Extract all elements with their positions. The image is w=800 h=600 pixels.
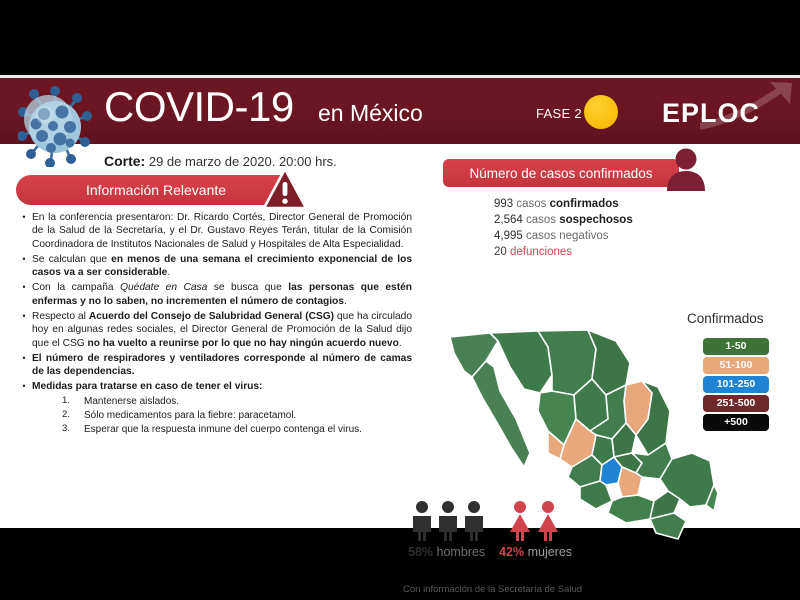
bullet-text: Con la campaña Quédate en Casa se busca … (32, 281, 412, 308)
bullet-marker-icon: • (16, 352, 32, 379)
stat-label: negativos (559, 230, 608, 242)
measures-list: 1.Mantenerse aislados.2.Sólo medicamento… (62, 395, 412, 437)
state-chiapas (650, 513, 686, 539)
bullet-text: Se calculan que en menos de una semana e… (32, 253, 412, 280)
bullet-item: •En la conferencia presentaron: Dr. Rica… (16, 211, 412, 251)
bullet-text: Respecto al Acuerdo del Consejo de Salub… (32, 310, 412, 350)
slide-root: COVID-19 en México FASE 2 EPLOC (0, 0, 800, 600)
female-percent: 42% (499, 545, 524, 559)
cases-banner-label: Número de casos confirmados (443, 159, 679, 187)
state-sonora (490, 331, 552, 393)
stat-word: casos (526, 230, 559, 242)
case-statistics: 993 casos confirmados2,564 casos sospech… (494, 197, 633, 260)
page-title: COVID-19 (104, 86, 294, 128)
stat-label: defunciones (510, 246, 572, 258)
bullet-marker-icon: • (16, 281, 32, 308)
header-band: COVID-19 en México FASE 2 EPLOC (0, 78, 800, 144)
bullet-text: En la conferencia presentaron: Dr. Ricar… (32, 211, 412, 251)
bullet-item: •Con la campaña Quédate en Casa se busca… (16, 281, 412, 308)
info-banner: Información Relevante (16, 175, 296, 205)
gender-figures (410, 499, 590, 541)
coronavirus-icon (18, 81, 92, 167)
fase-label: FASE 2 (536, 106, 582, 121)
stat-label: sospechosos (559, 214, 633, 226)
yellow-circle-icon (584, 95, 618, 129)
female-figure-icon (510, 501, 558, 541)
male-label: hombres (437, 545, 486, 559)
list-item-number: 3. (62, 423, 84, 436)
list-item: 1.Mantenerse aislados. (62, 395, 412, 408)
person-silhouette-icon (663, 145, 709, 191)
list-item-text: Sólo medicamentos para la fiebre: parace… (84, 409, 412, 422)
bullet-item: •El número de respiradores y ventiladore… (16, 352, 412, 379)
bullet-list: •En la conferencia presentaron: Dr. Rica… (16, 211, 412, 437)
stat-number: 4,995 (494, 230, 526, 242)
info-banner-label: Información Relevante (16, 175, 296, 205)
bullet-marker-icon: • (16, 211, 32, 251)
bullet-item: •Respecto al Acuerdo del Consejo de Salu… (16, 310, 412, 350)
gender-icon-group (410, 499, 590, 546)
stat-number: 2,564 (494, 214, 526, 226)
stat-word: casos (516, 198, 549, 210)
bullet-item: •Medidas para tratarse en caso de tener … (16, 380, 412, 393)
stat-line: 2,564 casos sospechosos (494, 213, 633, 229)
stat-line: 993 casos confirmados (494, 197, 633, 213)
stat-line: 4,995 casos negativos (494, 229, 633, 245)
stat-number: 20 (494, 246, 510, 258)
bullet-item: •Se calculan que en menos de una semana … (16, 253, 412, 280)
bullet-marker-icon: • (16, 380, 32, 393)
stat-number: 993 (494, 198, 516, 210)
page-subtitle: en México (318, 100, 423, 127)
corte-value: 29 de marzo de 2020. 20:00 hrs. (149, 154, 337, 169)
stat-line: 20 defunciones (494, 245, 633, 261)
male-figure-icon (413, 501, 483, 541)
list-item-text: Esperar que la respuesta inmune del cuer… (84, 423, 412, 436)
source-note: Con información de la Secretaría de Salu… (403, 584, 582, 595)
stat-label: confirmados (550, 198, 619, 210)
list-item: 2.Sólo medicamentos para la fiebre: para… (62, 409, 412, 422)
gender-labels: 58% hombres 42% mujeres (408, 545, 572, 559)
slide-canvas: COVID-19 en México FASE 2 EPLOC (0, 75, 800, 528)
list-item-number: 1. (62, 395, 84, 408)
legend-title: Confirmados (687, 311, 764, 326)
stat-word: casos (526, 214, 559, 226)
bullet-marker-icon: • (16, 253, 32, 280)
letterbox-top (0, 0, 800, 75)
list-item: 3.Esperar que la respuesta inmune del cu… (62, 423, 412, 436)
bullet-text: Medidas para tratarse en caso de tener e… (32, 380, 412, 393)
corte-label: Corte: (104, 153, 145, 169)
state-oaxaca (608, 495, 654, 523)
warning-triangle-icon (262, 167, 308, 211)
bullet-marker-icon: • (16, 310, 32, 350)
female-label: mujeres (528, 545, 572, 559)
brand-logo: EPLOC (662, 98, 760, 129)
cases-banner: Número de casos confirmados (443, 159, 679, 187)
list-item-text: Mantenerse aislados. (84, 395, 412, 408)
male-percent: 58% (408, 545, 433, 559)
list-item-number: 2. (62, 409, 84, 422)
bullet-text: El número de respiradores y ventiladores… (32, 352, 412, 379)
